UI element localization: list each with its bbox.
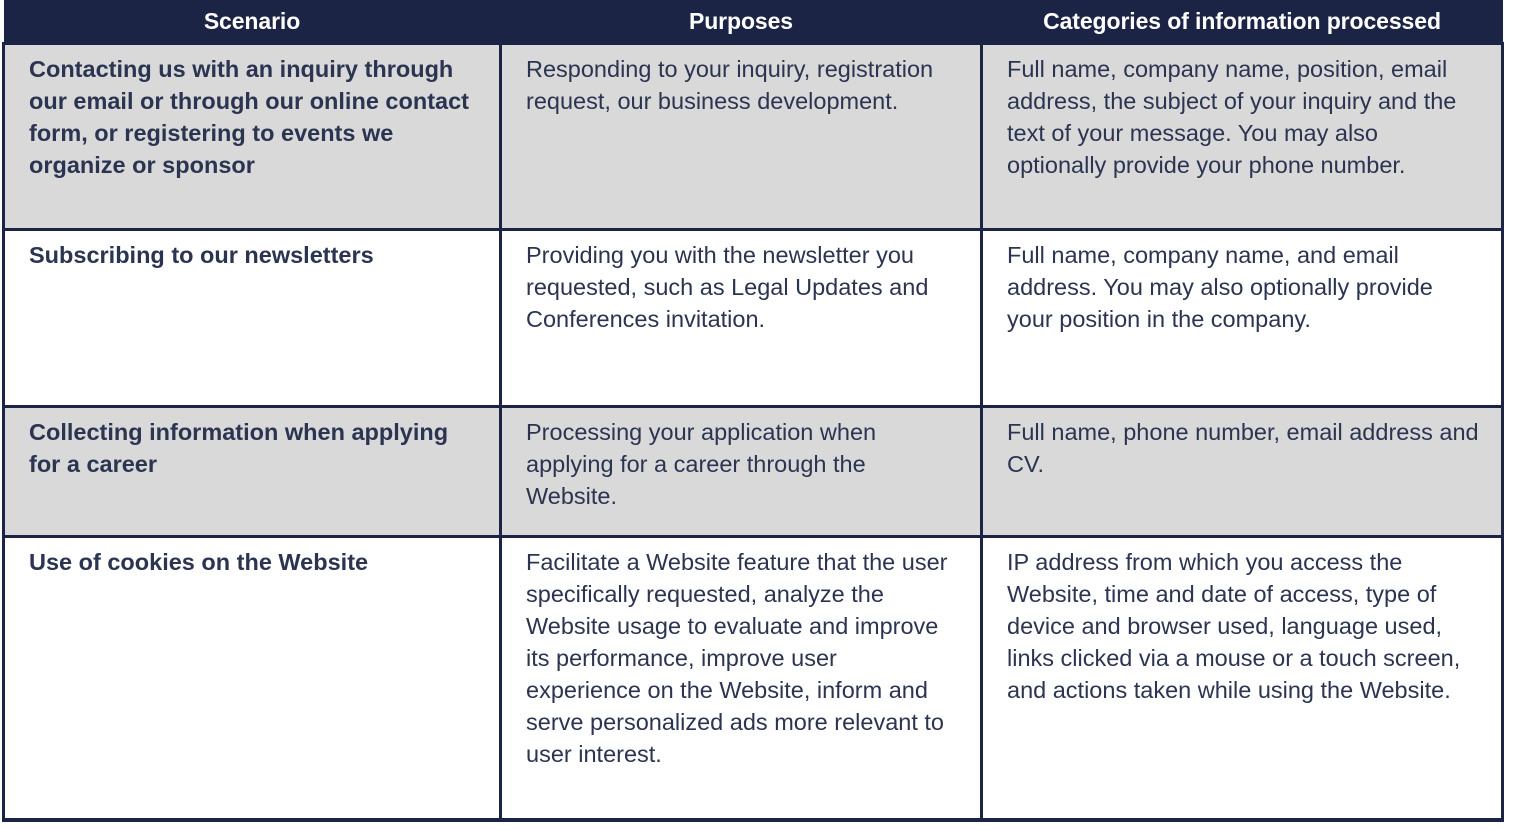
table-row: Contacting us with an inquiry through ou… (4, 44, 1503, 230)
cell-scenario: Collecting information when applying for… (4, 407, 501, 537)
cell-purposes: Facilitate a Website feature that the us… (501, 537, 982, 820)
table-row: Subscribing to our newsletters Providing… (4, 230, 1503, 407)
table-row: Use of cookies on the Website Facilitate… (4, 537, 1503, 820)
cell-purposes-text: Processing your application when applyin… (526, 416, 958, 512)
cell-scenario: Use of cookies on the Website (4, 537, 501, 820)
cell-categories: Full name, company name, position, email… (982, 44, 1503, 230)
cell-categories-text: Full name, phone number, email address a… (1007, 416, 1479, 480)
cell-purposes: Providing you with the newsletter you re… (501, 230, 982, 407)
cell-scenario-text: Collecting information when applying for… (29, 416, 477, 480)
cell-categories-text: IP address from which you access the Web… (1007, 546, 1479, 706)
table-header-row: Scenario Purposes Categories of informat… (4, 0, 1503, 44)
cell-purposes-text: Facilitate a Website feature that the us… (526, 546, 958, 770)
privacy-data-table: Scenario Purposes Categories of informat… (2, 0, 1504, 822)
cell-scenario: Subscribing to our newsletters (4, 230, 501, 407)
cell-categories: IP address from which you access the Web… (982, 537, 1503, 820)
cell-scenario-text: Use of cookies on the Website (29, 546, 477, 578)
column-header-purposes: Purposes (501, 0, 982, 44)
table-row: Collecting information when applying for… (4, 407, 1503, 537)
cell-purposes-text: Responding to your inquiry, registration… (526, 53, 958, 117)
cell-scenario-text: Contacting us with an inquiry through ou… (29, 53, 477, 181)
cell-scenario: Contacting us with an inquiry through ou… (4, 44, 501, 230)
cell-purposes: Processing your application when applyin… (501, 407, 982, 537)
table-body: Contacting us with an inquiry through ou… (4, 44, 1503, 820)
cell-purposes-text: Providing you with the newsletter you re… (526, 239, 958, 335)
cell-categories-text: Full name, company name, position, email… (1007, 53, 1479, 181)
table-header: Scenario Purposes Categories of informat… (4, 0, 1503, 44)
column-header-categories: Categories of information processed (982, 0, 1503, 44)
cell-categories-text: Full name, company name, and email addre… (1007, 239, 1479, 335)
cell-purposes: Responding to your inquiry, registration… (501, 44, 982, 230)
cell-scenario-text: Subscribing to our newsletters (29, 239, 477, 271)
cell-categories: Full name, company name, and email addre… (982, 230, 1503, 407)
column-header-scenario: Scenario (4, 0, 501, 44)
cell-categories: Full name, phone number, email address a… (982, 407, 1503, 537)
